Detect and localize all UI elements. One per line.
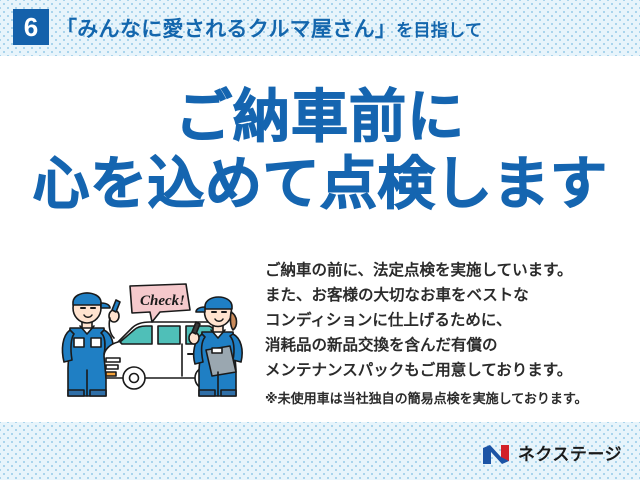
body-line: 消耗品の新品交換を含んだ有償の — [265, 333, 625, 358]
check-bubble-label: Check! — [140, 293, 185, 309]
body-line: コンディションに仕上げるために、 — [265, 308, 625, 333]
body-line: また、お客様の大切なお車をベストな — [265, 283, 625, 308]
brand-logo: ネクステージ — [482, 441, 622, 467]
header-title-quoted: 「みんなに愛されるクルマ屋さん」 — [56, 13, 396, 43]
section-number-badge: 6 — [13, 9, 49, 45]
body-line: メンテナンスパックもご用意しております。 — [265, 358, 625, 383]
header-title-suffix: を目指して — [396, 16, 482, 41]
body-line: ご納車の前に、法定点検を実施しています。 — [265, 258, 625, 283]
brand-name: ネクステージ — [518, 444, 622, 465]
page-title: ご納車前に 心を込めて点検します — [0, 88, 640, 215]
body-note: ※未使用車は当社独自の簡易点検を実施しております。 — [265, 386, 625, 411]
body-copy: ご納車の前に、法定点検を実施しています。 また、お客様の大切なお車をベストな コ… — [265, 258, 625, 411]
page-title-line-2: 心を込めて点検します — [0, 155, 640, 214]
advertisement-page: 6 「みんなに愛されるクルマ屋さん」を目指して ご納車前に 心を込めて点検します — [0, 0, 640, 480]
mechanics-illustration: Check! — [60, 272, 255, 400]
header-title: 「みんなに愛されるクルマ屋さん」を目指して — [56, 12, 482, 44]
page-title-line-1: ご納車前に — [0, 88, 640, 147]
nextage-n-mark — [482, 444, 512, 465]
